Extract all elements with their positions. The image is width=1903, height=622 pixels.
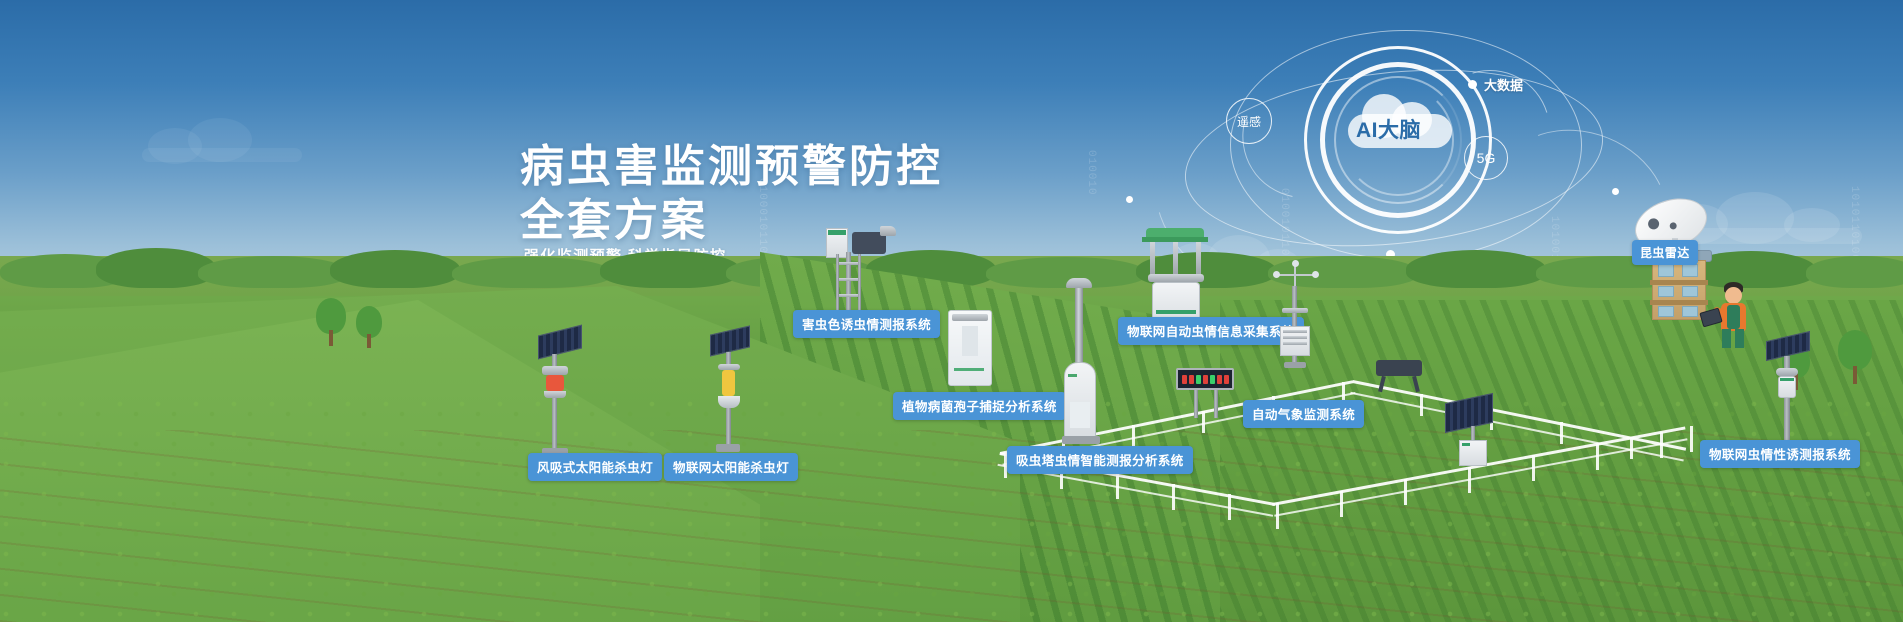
label-iot-solar-lamp[interactable]: 物联网太阳能杀虫灯 [664, 453, 798, 481]
device-solar-cabinet[interactable] [1445, 398, 1501, 464]
tree [356, 306, 382, 348]
label-spore-capture[interactable]: 植物病菌孢子捕捉分析系统 [893, 392, 1066, 420]
label-color-trap[interactable]: 害虫色诱虫情测报系统 [793, 310, 940, 338]
tree-line [0, 244, 1903, 284]
device-pheromone-trap[interactable] [1760, 336, 1816, 452]
device-wind-lamp[interactable] [530, 330, 588, 456]
wifi-icon [1686, 196, 1706, 216]
device-auto-weather[interactable] [1262, 264, 1326, 370]
connector-endpoint-dot [1126, 196, 1133, 203]
wifi-icon [1702, 272, 1720, 290]
tree [1838, 330, 1872, 384]
farmer-figure [1700, 272, 1754, 348]
crop-tuft-texture [0, 398, 1903, 622]
device-iot-solar-lamp[interactable] [706, 330, 756, 452]
label-wind-lamp[interactable]: 风吸式太阳能杀虫灯 [528, 453, 662, 481]
cloud-decoration [140, 118, 320, 158]
device-black-collector[interactable] [1372, 360, 1426, 394]
label-suction-tower[interactable]: 吸虫塔虫情智能测报分析系统 [1007, 446, 1193, 474]
connector-endpoint-dot [1612, 188, 1619, 195]
device-led-board[interactable] [1176, 360, 1236, 420]
device-suction-tower[interactable] [1058, 278, 1104, 456]
infographic-banner: 01000101101101 010010 0100101101 1010010… [0, 0, 1903, 622]
tree [316, 298, 346, 346]
device-spore-capture[interactable] [948, 310, 996, 388]
label-insect-radar[interactable]: 昆虫雷达 [1632, 240, 1698, 265]
label-pheromone-trap[interactable]: 物联网虫情性诱测报系统 [1700, 440, 1860, 468]
headline-line-1: 病虫害监测预警防控 [520, 140, 943, 194]
led-display [1176, 368, 1234, 390]
device-auto-collect[interactable] [1138, 228, 1216, 324]
anemometer-icon [1276, 264, 1322, 290]
binary-code-decoration: 010010 [1085, 150, 1097, 196]
label-auto-weather[interactable]: 自动气象监测系统 [1243, 400, 1364, 428]
ai-brain-cluster: AI大脑 遥感 5G 大数据 物联网 [1280, 36, 1620, 256]
